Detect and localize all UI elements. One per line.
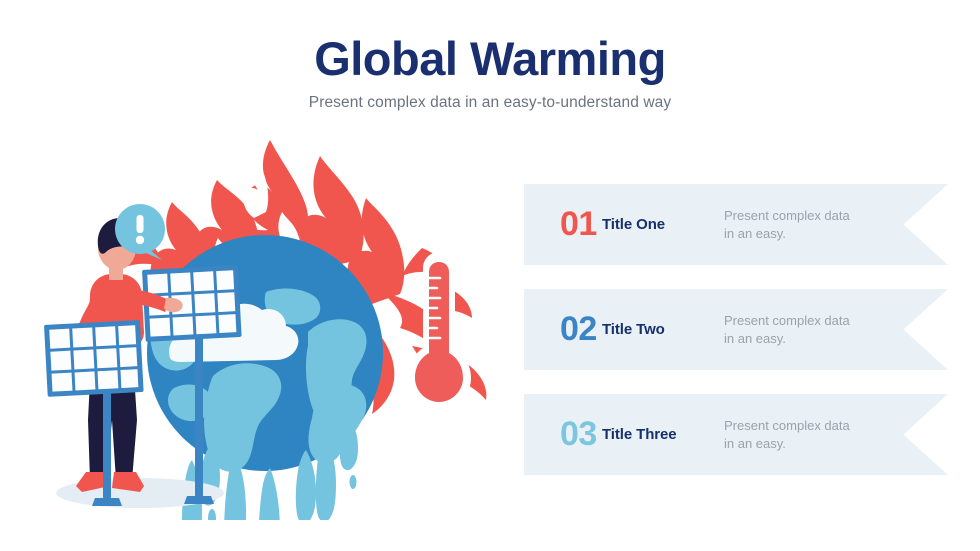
banner-title-02: Title Two bbox=[602, 321, 724, 338]
banner-number-03: 03 bbox=[524, 415, 602, 454]
page-title: Global Warming bbox=[0, 34, 980, 83]
banner-description-02: Present complex data in an easy. bbox=[724, 312, 854, 347]
banner-number-02: 02 bbox=[524, 310, 602, 349]
banner-description-01: Present complex data in an easy. bbox=[724, 207, 854, 242]
banner-row-02[interactable]: 02 Title Two Present complex data in an … bbox=[524, 289, 948, 370]
banner-title-01: Title One bbox=[602, 216, 724, 233]
banner-number-01: 01 bbox=[524, 205, 602, 244]
page-subtitle: Present complex data in an easy-to-under… bbox=[0, 94, 980, 112]
banner-description-03: Present complex data in an easy. bbox=[724, 417, 854, 452]
banner-title-03: Title Three bbox=[602, 426, 724, 443]
slide-header: Global Warming Present complex data in a… bbox=[0, 34, 980, 112]
banner-row-01[interactable]: 01 Title One Present complex data in an … bbox=[524, 184, 948, 265]
banner-row-03[interactable]: 03 Title Three Present complex data in a… bbox=[524, 394, 948, 475]
global-warming-illustration bbox=[20, 120, 510, 520]
banner-list: 01 Title One Present complex data in an … bbox=[524, 184, 948, 475]
